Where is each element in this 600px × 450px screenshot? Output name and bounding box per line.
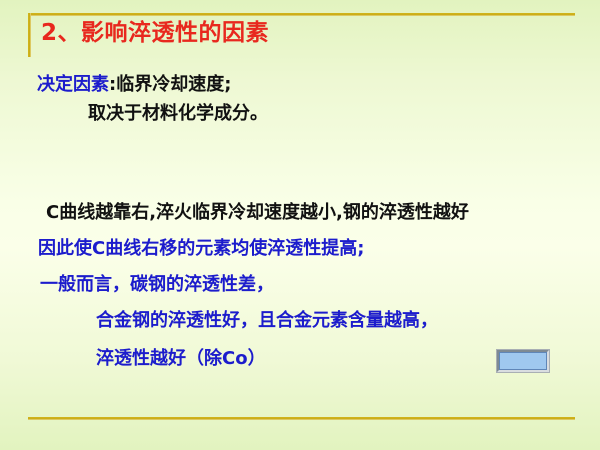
title-rule-top (28, 13, 575, 16)
slide-canvas: 2、影响淬透性的因素 决定因素:临界冷却速度; 取决于材料化学成分。 C曲线越靠… (0, 0, 600, 450)
footer-rule (28, 417, 575, 420)
decisive-factor-label: 决定因素 (37, 74, 109, 95)
blue-highlight-box-inner (499, 352, 547, 370)
decisive-factor-line: 决定因素:临界冷却速度; (37, 74, 231, 96)
conclusion-line-2: 因此使C曲线右移的元素均使淬透性提高; (38, 238, 364, 260)
conclusion-line-3: 一般而言，碳钢的淬透性差， (40, 274, 274, 296)
conclusion-line-5: 淬透性越好（除Co） (96, 348, 266, 370)
title-rule-left (28, 13, 31, 57)
depends-on-composition-line: 取决于材料化学成分。 (88, 103, 268, 125)
conclusion-line-4: 合金钢的淬透性好，且合金元素含量越高， (96, 310, 438, 332)
conclusion-line-1: C曲线越靠右,淬火临界冷却速度越小,钢的淬透性越好 (46, 202, 469, 224)
decisive-factor-value: :临界冷却速度; (109, 74, 231, 95)
blue-highlight-box[interactable] (497, 350, 549, 372)
page-title: 2、影响淬透性的因素 (41, 20, 269, 48)
